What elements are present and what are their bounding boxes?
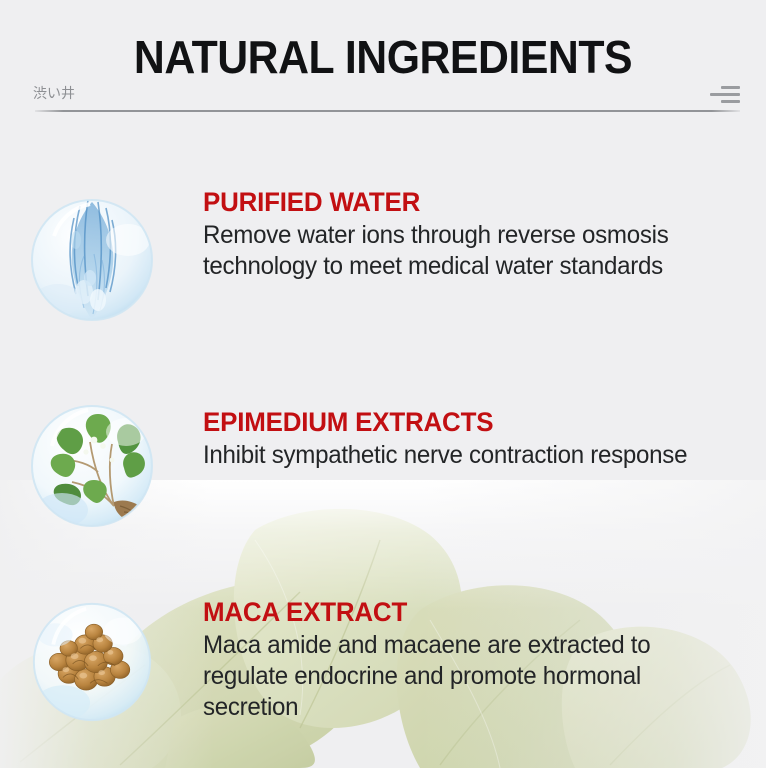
ingredient-heading: EPIMEDIUM EXTRACTS xyxy=(203,406,726,439)
ingredients-page: NATURAL INGREDIENTS 渋い井 xyxy=(0,0,766,768)
ingredient-body: EPIMEDIUM EXTRACTS Inhibit sympathetic n… xyxy=(203,406,748,471)
ingredient-heading: PURIFIED WATER xyxy=(203,186,726,219)
ingredient-description: Inhibit sympathetic nerve contraction re… xyxy=(203,440,729,471)
epimedium-plant-bubble-icon xyxy=(28,402,156,530)
brand-row: 渋い井 xyxy=(0,84,766,112)
hamburger-bar-top xyxy=(721,86,740,89)
header-divider xyxy=(35,110,740,112)
hamburger-bar-middle xyxy=(710,93,740,96)
ingredient-body: PURIFIED WATER Remove water ions through… xyxy=(203,186,748,282)
maca-root-bubble-icon xyxy=(30,600,154,724)
page-title: NATURAL INGREDIENTS xyxy=(27,30,739,84)
brand-name-label: 渋い井 xyxy=(33,84,75,104)
hamburger-bar-bottom xyxy=(721,100,740,103)
ingredient-description: Remove water ions through reverse osmosi… xyxy=(203,220,729,282)
ingredient-body: MACA EXTRACT Maca amide and macaene are … xyxy=(203,596,748,723)
water-splash-bubble-icon xyxy=(28,196,156,324)
page-header: NATURAL INGREDIENTS 渋い井 xyxy=(0,0,766,130)
ingredient-description: Maca amide and macaene are extracted to … xyxy=(203,630,729,723)
hamburger-menu-icon[interactable] xyxy=(704,84,740,108)
ingredient-heading: MACA EXTRACT xyxy=(203,596,726,629)
